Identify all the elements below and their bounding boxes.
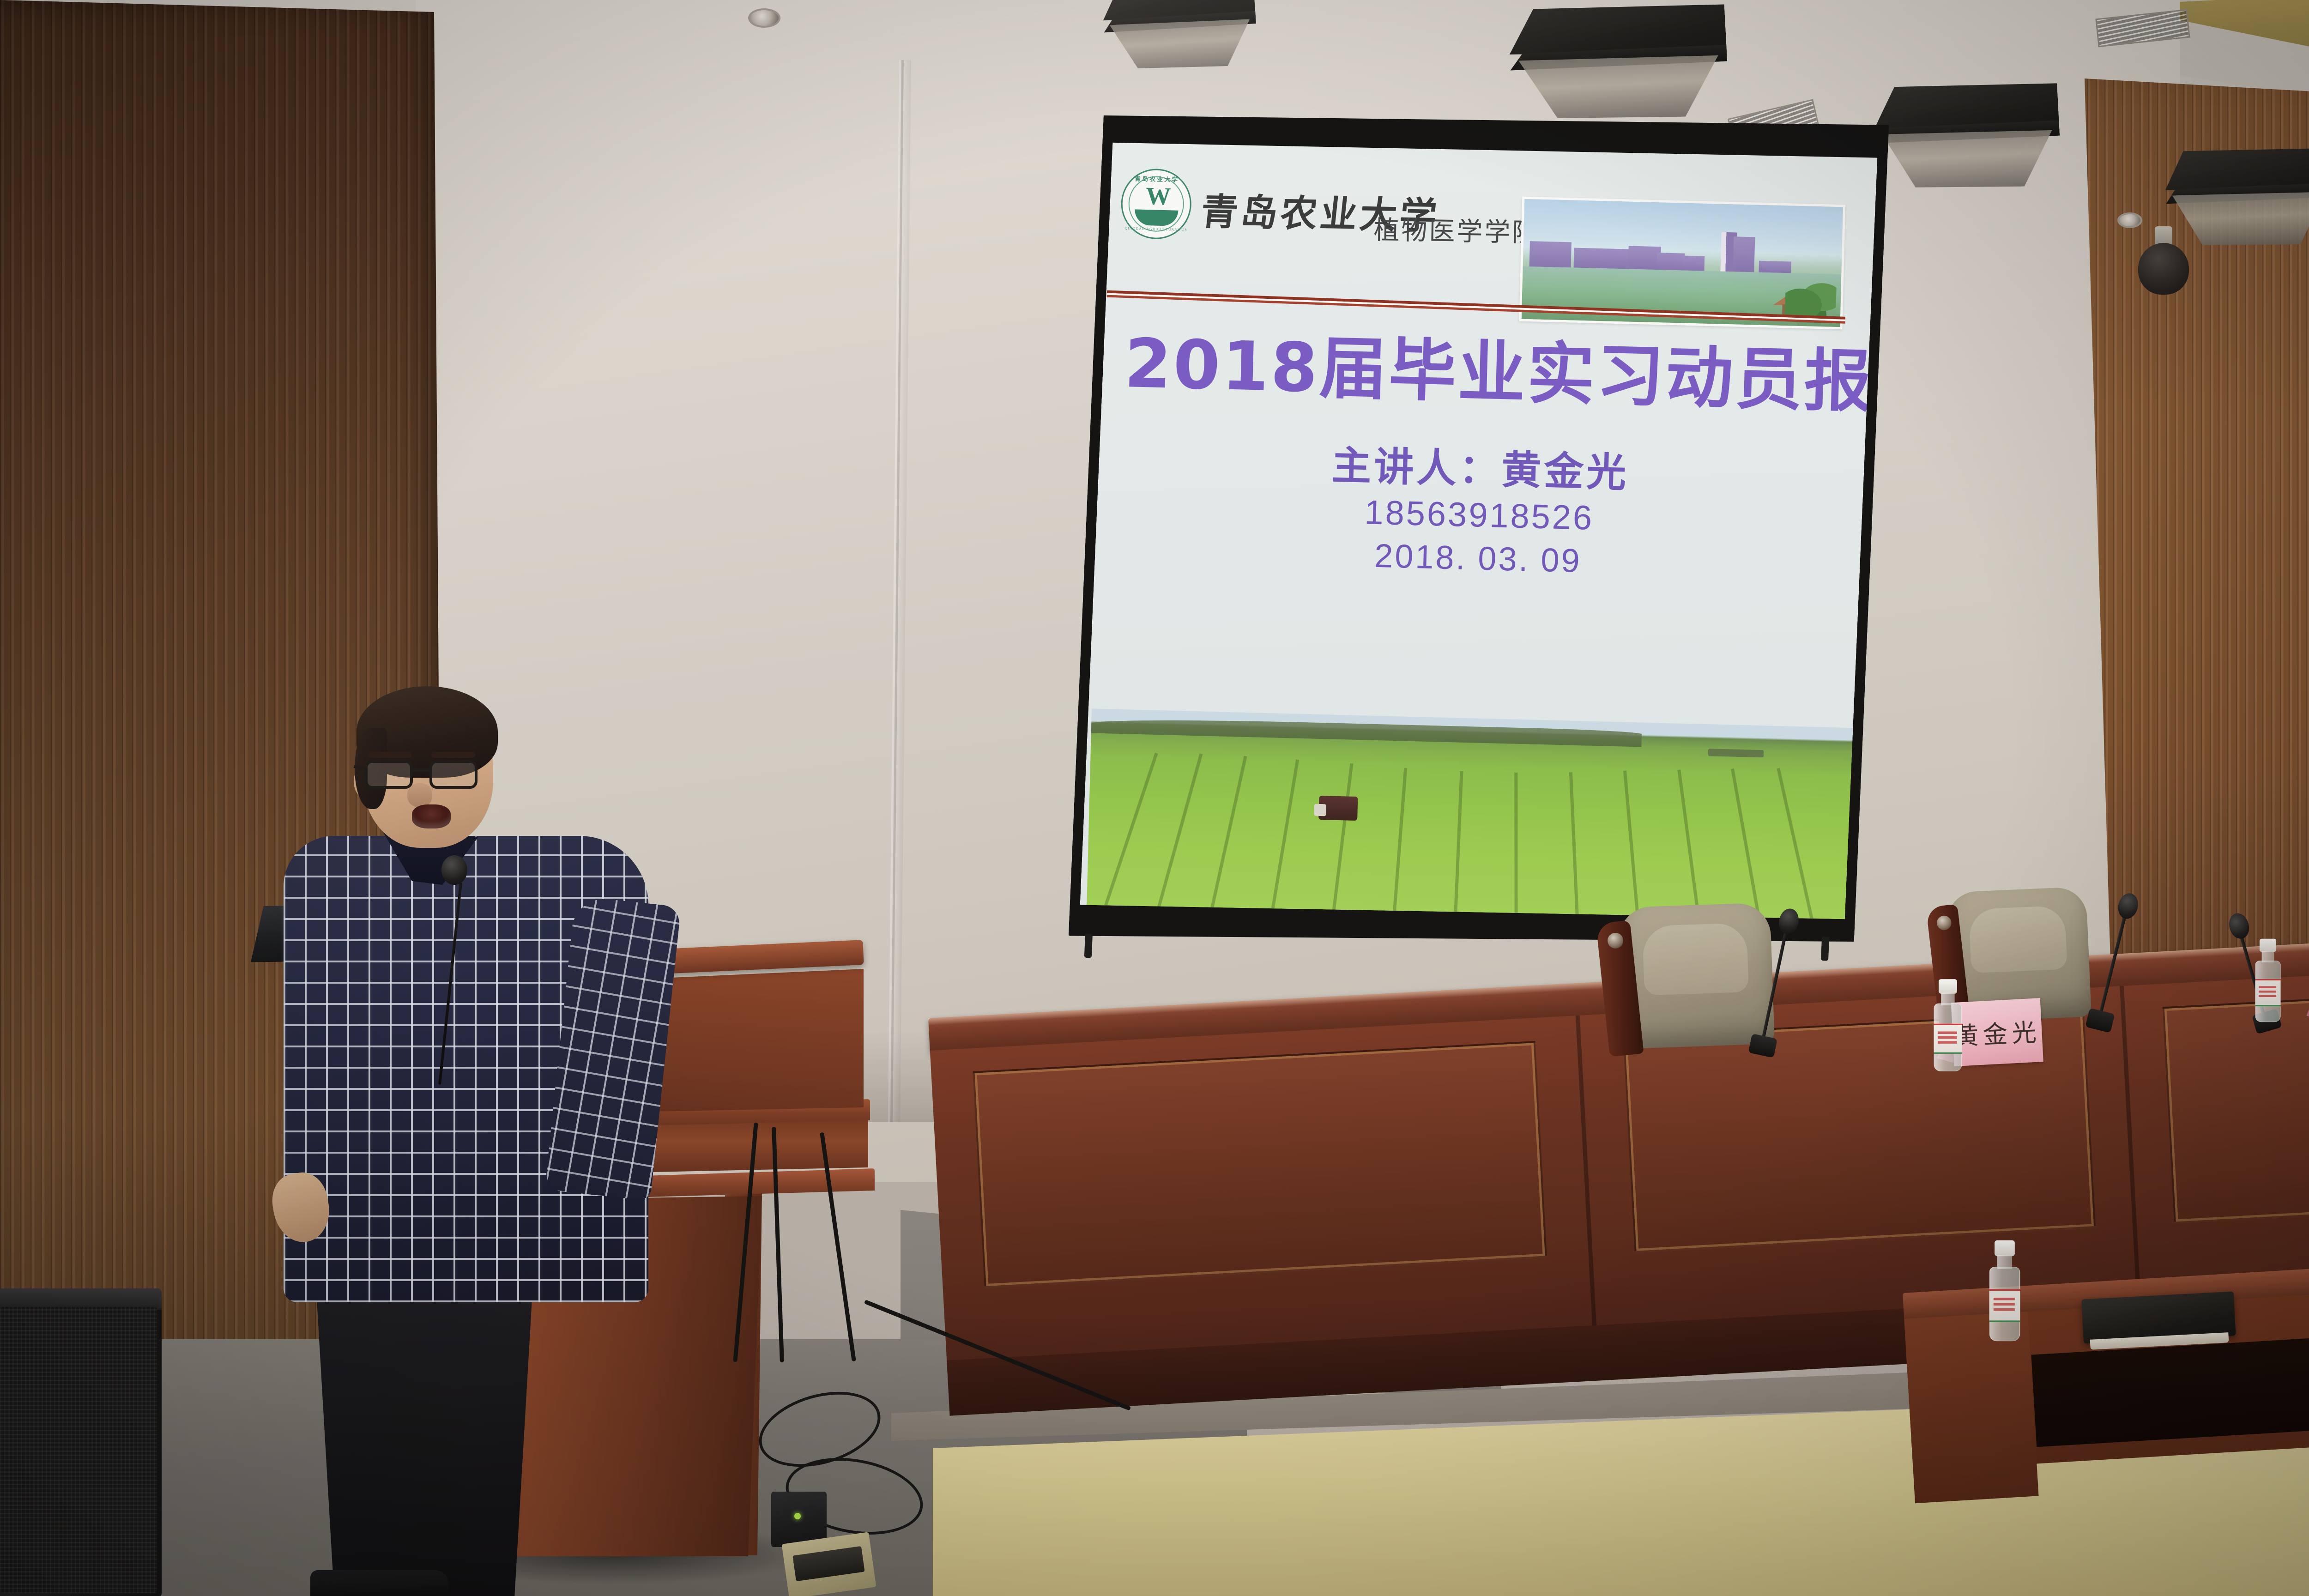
ceiling-spotlight-1 [1507,0,1730,126]
eyeglasses-icon [362,760,497,791]
presenter-brow-right [431,752,476,758]
water-bottle-1 [1932,979,1964,1071]
slide-title: 2018届毕业实习动员报告 [1124,328,1845,417]
clip-microphone-icon [441,855,467,885]
screen-weight-tab-right [1821,937,1829,961]
campus-skyline [1523,225,1843,274]
presenter-nose [407,783,432,807]
presenter-person [277,683,656,1596]
ceiling-downlight-4 [2117,212,2142,228]
slide-subtext-block: 主讲人：黄金光 18563918526 2018. 03. 09 [1095,436,1863,590]
name-card-1-text: 黄金光 [1951,998,2043,1066]
water-bottle-2 [2254,939,2283,1022]
presenter-trousers [316,1284,533,1596]
logo-arc-bottom-text: QINGDAO AGRICULTURAL UNIVERSITY [1124,224,1186,235]
presenter-shoe [310,1570,449,1596]
presenter-brow-left [368,752,412,758]
screen-surface: 青岛农业大学 W QINGDAO AGRICULTURAL UNIVERSITY… [1080,125,1878,937]
dome-security-camera-icon [2138,226,2189,296]
field-crop-rows [1087,737,1856,931]
power-led-indicator [794,1513,801,1519]
screen-weight-tab-left [1084,934,1093,958]
field-sprayer [1708,749,1764,757]
ceiling-spotlight-4 [1101,0,1259,74]
presenter-mouth [412,804,451,828]
slide-college-name: 植物医学学院 [1373,209,1540,249]
water-bottle-3 [1987,1240,2022,1342]
table-panel-1 [973,1041,1547,1288]
crop-field-photo [1087,708,1856,931]
logo-monogram: W [1136,182,1177,211]
university-logo-icon: 青岛农业大学 W QINGDAO AGRICULTURAL UNIVERSITY [1120,168,1192,240]
table-panel-3 [2163,995,2309,1224]
field-tractor [1318,796,1358,821]
ceiling-downlight-3 [748,8,780,28]
notebook-on-desk [2081,1291,2236,1354]
lecture-hall-photo: 青岛农业大学 W QINGDAO AGRICULTURAL UNIVERSITY… [0,0,2309,1596]
projection-screen: 青岛农业大学 W QINGDAO AGRICULTURAL UNIVERSITY… [1065,91,1930,1045]
pa-loudspeaker [0,1288,162,1596]
